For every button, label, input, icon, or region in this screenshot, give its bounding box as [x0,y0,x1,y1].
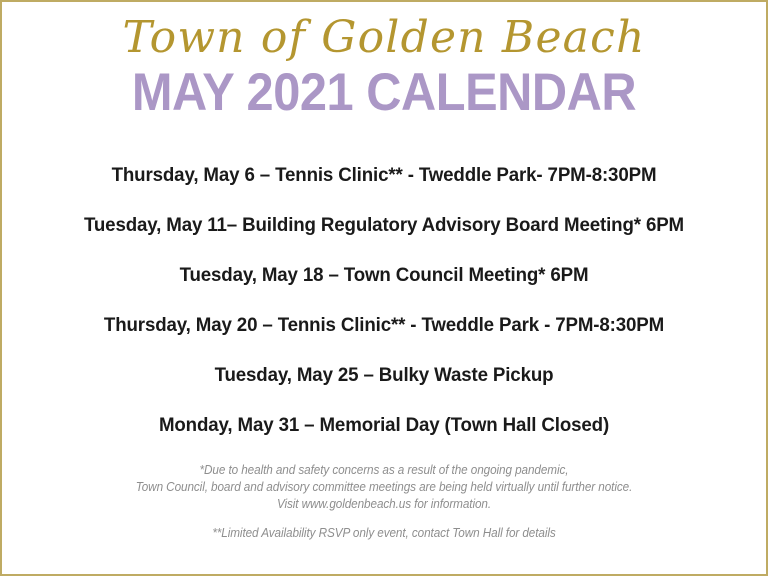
list-item: Tuesday, May 11– Building Regulatory Adv… [17,200,750,250]
list-item: Monday, May 31 – Memorial Day (Town Hall… [17,400,750,450]
list-item: Tuesday, May 25 – Bulky Waste Pickup [17,350,750,400]
footnote-secondary: **Limited Availability RSVP only event, … [25,525,743,542]
list-item: Thursday, May 20 – Tennis Clinic** - Twe… [17,300,750,350]
footnote-line: *Due to health and safety concerns as a … [25,462,743,479]
footnote-primary: *Due to health and safety concerns as a … [25,462,743,513]
list-item: Tuesday, May 18 – Town Council Meeting* … [17,250,750,300]
footnote-line: **Limited Availability RSVP only event, … [25,525,743,542]
organization-name: Town of Golden Beach [2,16,766,60]
calendar-flyer: Town of Golden Beach MAY 2021 CALENDAR T… [0,0,768,576]
event-list: Thursday, May 6 – Tennis Clinic** - Twed… [2,150,766,450]
footnote-line: Town Council, board and advisory committ… [25,479,743,496]
page-title: MAY 2021 CALENDAR [33,66,736,120]
footnotes: *Due to health and safety concerns as a … [2,462,766,542]
footnote-line: Visit www.goldenbeach.us for information… [25,496,743,513]
flyer-header: Town of Golden Beach MAY 2021 CALENDAR [2,2,766,120]
list-item: Thursday, May 6 – Tennis Clinic** - Twed… [17,150,750,200]
